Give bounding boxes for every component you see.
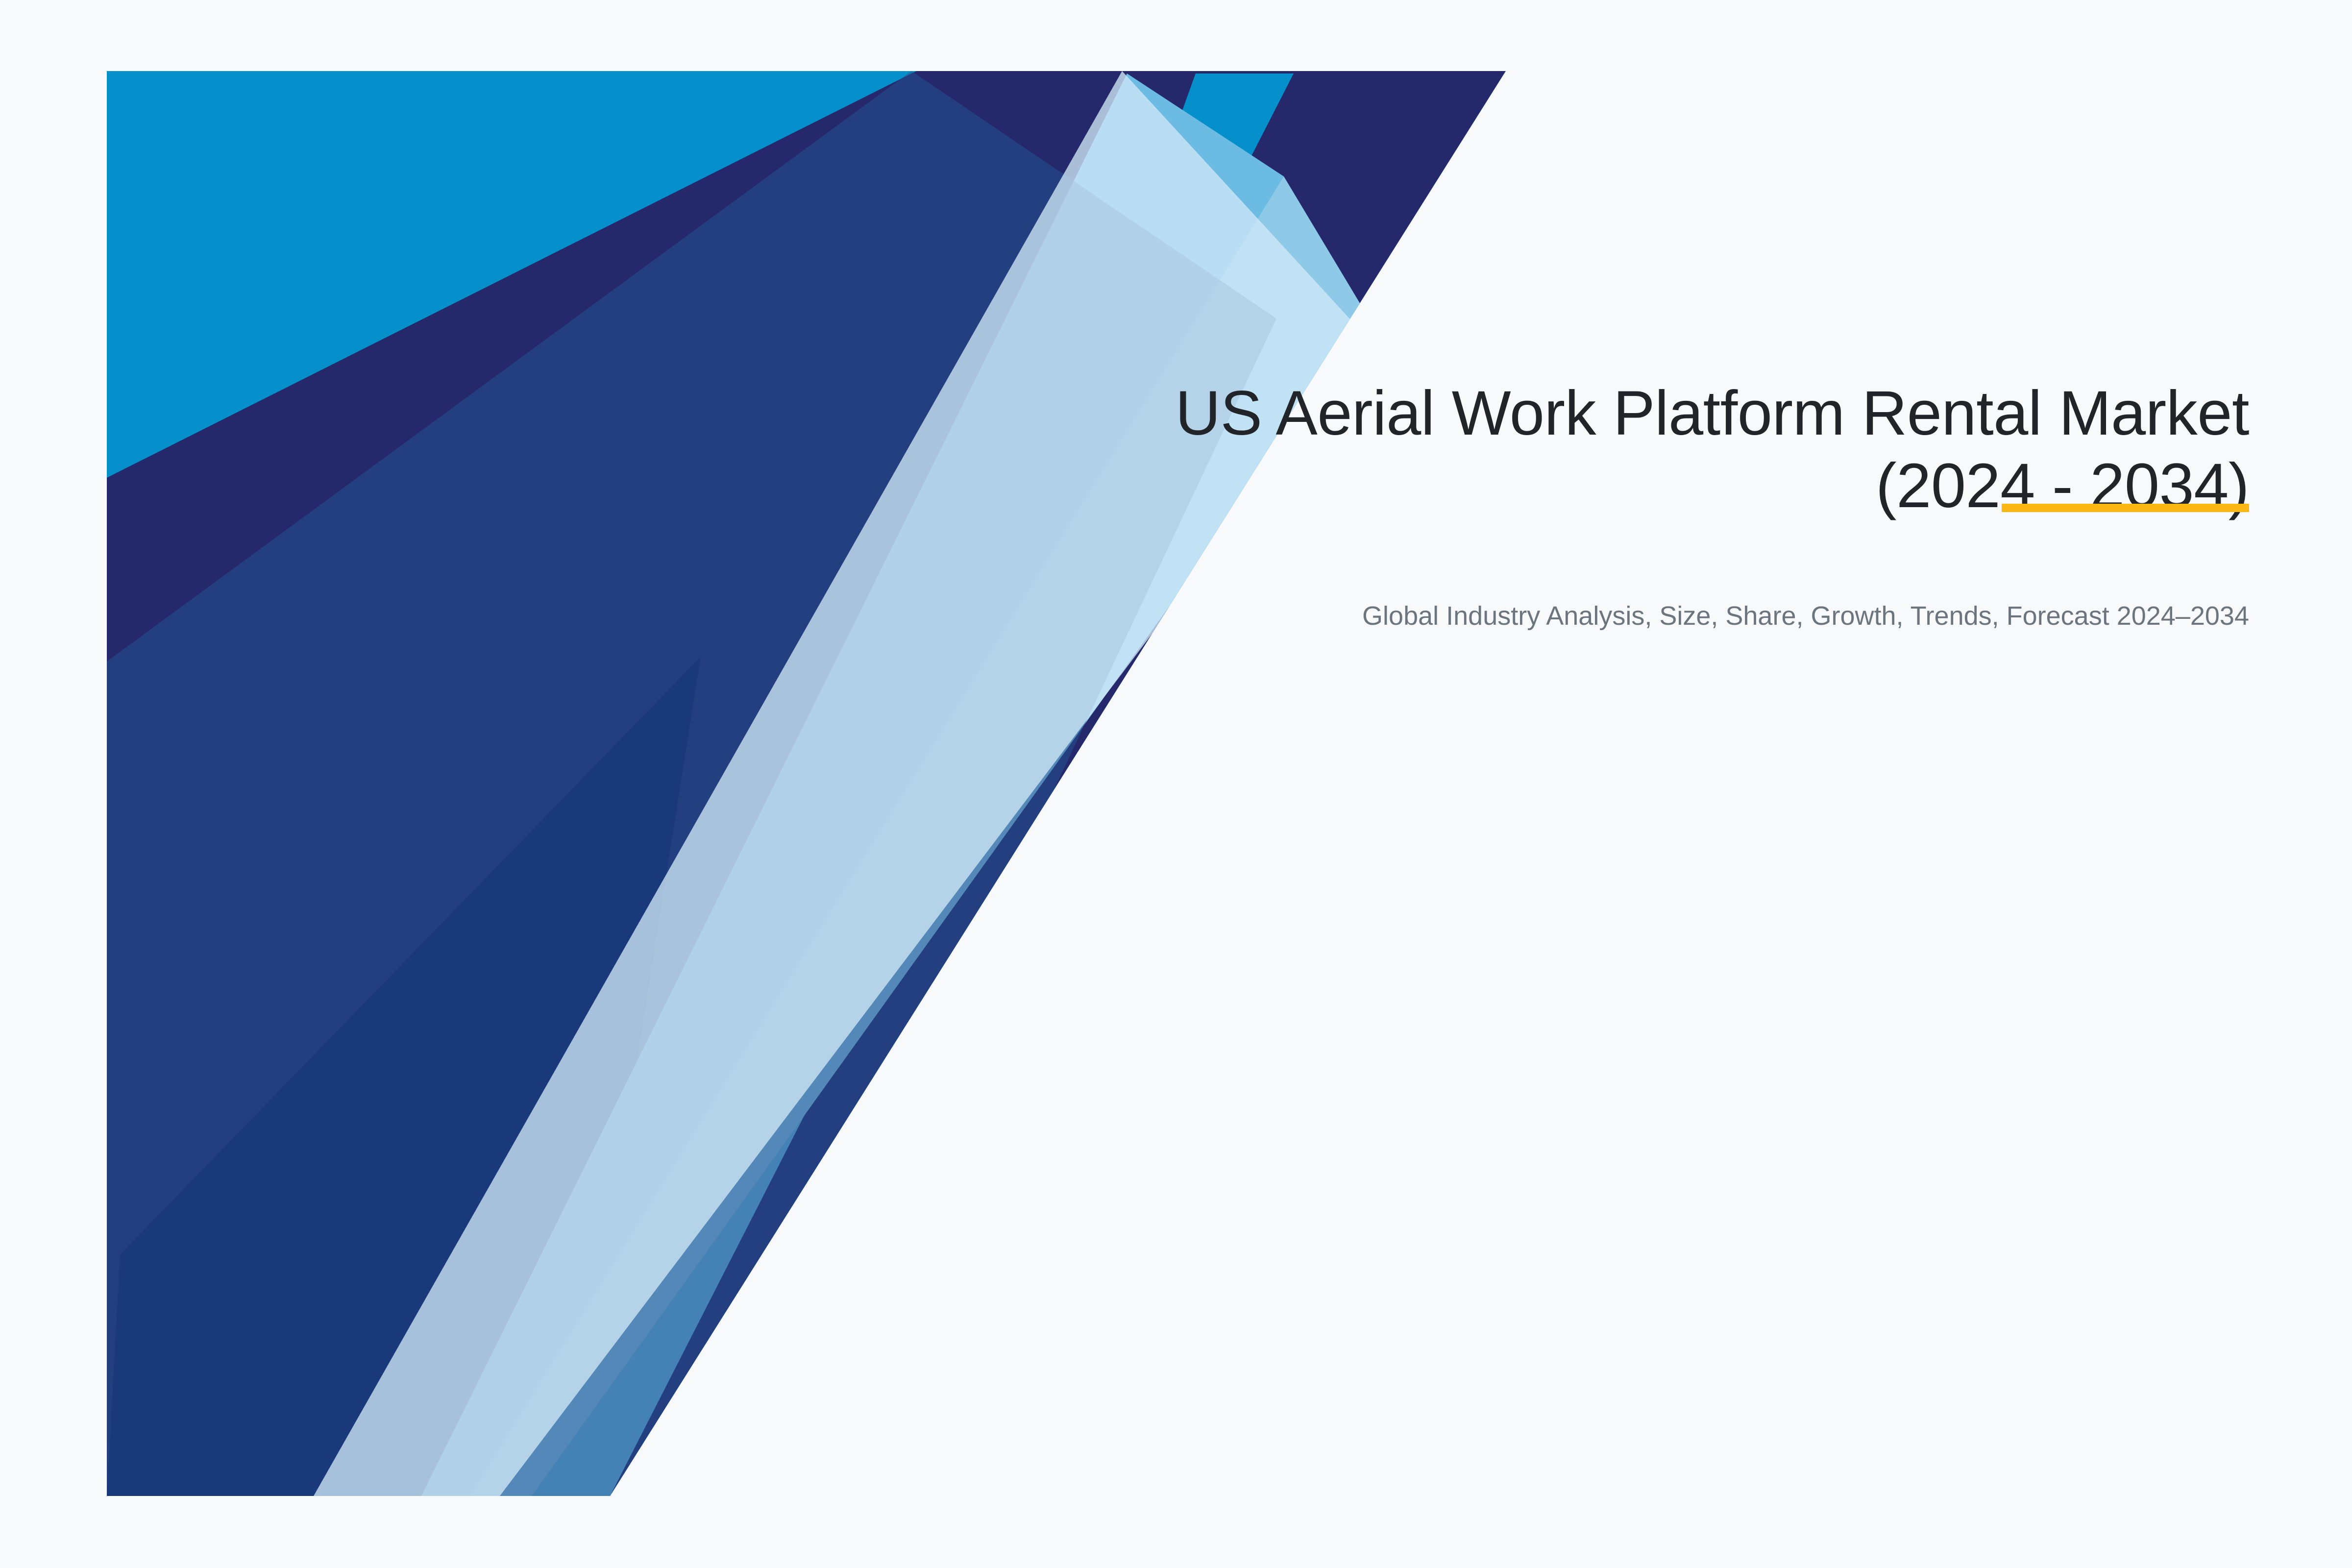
cover-text-block: US Aerial Work Platform Rental Market (2… <box>1024 377 2249 634</box>
page-title: US Aerial Work Platform Rental Market (2… <box>1024 377 2249 523</box>
abstract-geometric-artwork <box>0 0 2352 1568</box>
slate-overlay-polygon <box>107 71 1276 1496</box>
page-subtitle: Global Industry Analysis, Size, Share, G… <box>1024 599 2249 634</box>
pale-blue-overlay-polygon <box>314 71 1372 1496</box>
navy-deep-wedge <box>107 657 701 1496</box>
cyan-field <box>107 71 1508 1497</box>
navy-top-triangle <box>107 71 1506 1496</box>
report-cover-page: US Aerial Work Platform Rental Market (2… <box>0 0 2352 1568</box>
title-accent-underline <box>2002 504 2249 512</box>
sky-blue-band <box>421 73 1284 1496</box>
sky-blue-light-band <box>470 176 1372 1496</box>
title-wrapper: US Aerial Work Platform Rental Market (2… <box>1024 377 2249 523</box>
